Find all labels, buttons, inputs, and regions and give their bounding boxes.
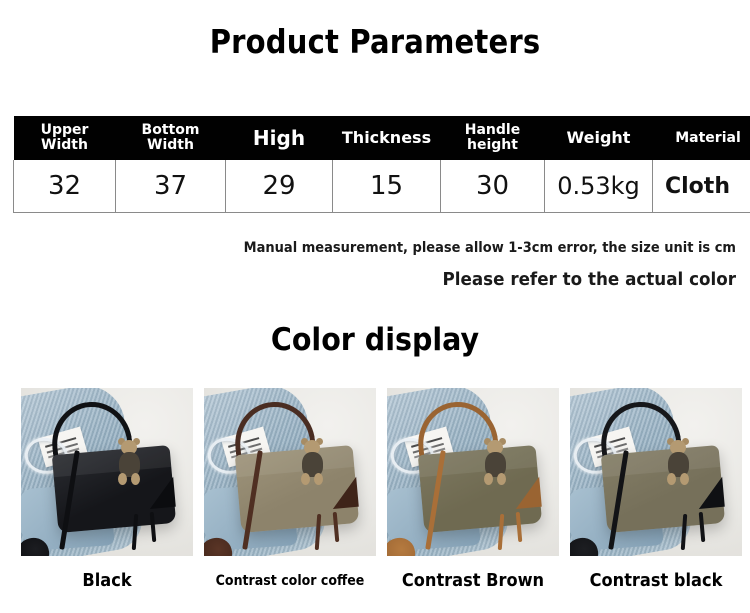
product-photo-0 — [21, 388, 193, 556]
column-header-weight: Weight — [545, 116, 653, 160]
color-label-2: Contrast Brown — [396, 568, 551, 598]
color-labels: Black Contrast color coffee Contrast Bro… — [0, 568, 750, 598]
color-option-2[interactable] — [387, 388, 559, 556]
table-header-row: Upper Width Bottom Width High Thickness … — [14, 116, 750, 160]
measurement-note: Manual measurement, please allow 1-3cm e… — [52, 240, 736, 256]
product-photo-2 — [387, 388, 559, 556]
column-header-bottom-width: Bottom Width — [116, 116, 226, 160]
page-title: Product Parameters — [45, 22, 705, 61]
cell-high: 29 — [226, 160, 333, 213]
color-label-1: Contrast color coffee — [213, 568, 368, 598]
bag-corner-0 — [147, 477, 176, 509]
bear-charm-3 — [666, 440, 692, 486]
notes-block: Manual measurement, please allow 1-3cm e… — [0, 240, 736, 290]
bag-corner-2 — [513, 477, 542, 509]
column-header-thickness: Thickness — [333, 116, 441, 160]
color-option-3[interactable] — [570, 388, 742, 556]
product-photo-1 — [204, 388, 376, 556]
product-photo-3 — [570, 388, 742, 556]
color-gallery — [0, 388, 750, 556]
cell-handle-height: 30 — [441, 160, 545, 213]
color-option-1[interactable] — [204, 388, 376, 556]
cell-material: Cloth — [653, 160, 750, 213]
color-option-0[interactable] — [21, 388, 193, 556]
column-header-upper-width: Upper Width — [14, 116, 116, 160]
column-header-handle-height: Handle height — [441, 116, 545, 160]
bear-charm-2 — [483, 440, 509, 486]
column-header-material: Material — [653, 116, 750, 160]
cell-bottom-width: 37 — [116, 160, 226, 213]
bear-charm-0 — [117, 440, 143, 486]
column-header-high: High — [226, 116, 333, 160]
bag-corner-1 — [330, 477, 359, 509]
cell-upper-width: 32 — [14, 160, 116, 213]
color-label-3: Contrast black — [579, 568, 734, 598]
table-row: 32 37 29 15 30 0.53kg Cloth — [14, 160, 750, 213]
bear-charm-1 — [300, 440, 326, 486]
color-note: Please refer to the actual color — [52, 269, 736, 290]
bag-corner-3 — [696, 477, 725, 509]
parameters-table: Upper Width Bottom Width High Thickness … — [13, 116, 750, 213]
cell-thickness: 15 — [333, 160, 441, 213]
color-label-0: Black — [30, 568, 185, 598]
section-title-color-display: Color display — [30, 322, 720, 358]
cell-weight: 0.53kg — [545, 160, 653, 213]
